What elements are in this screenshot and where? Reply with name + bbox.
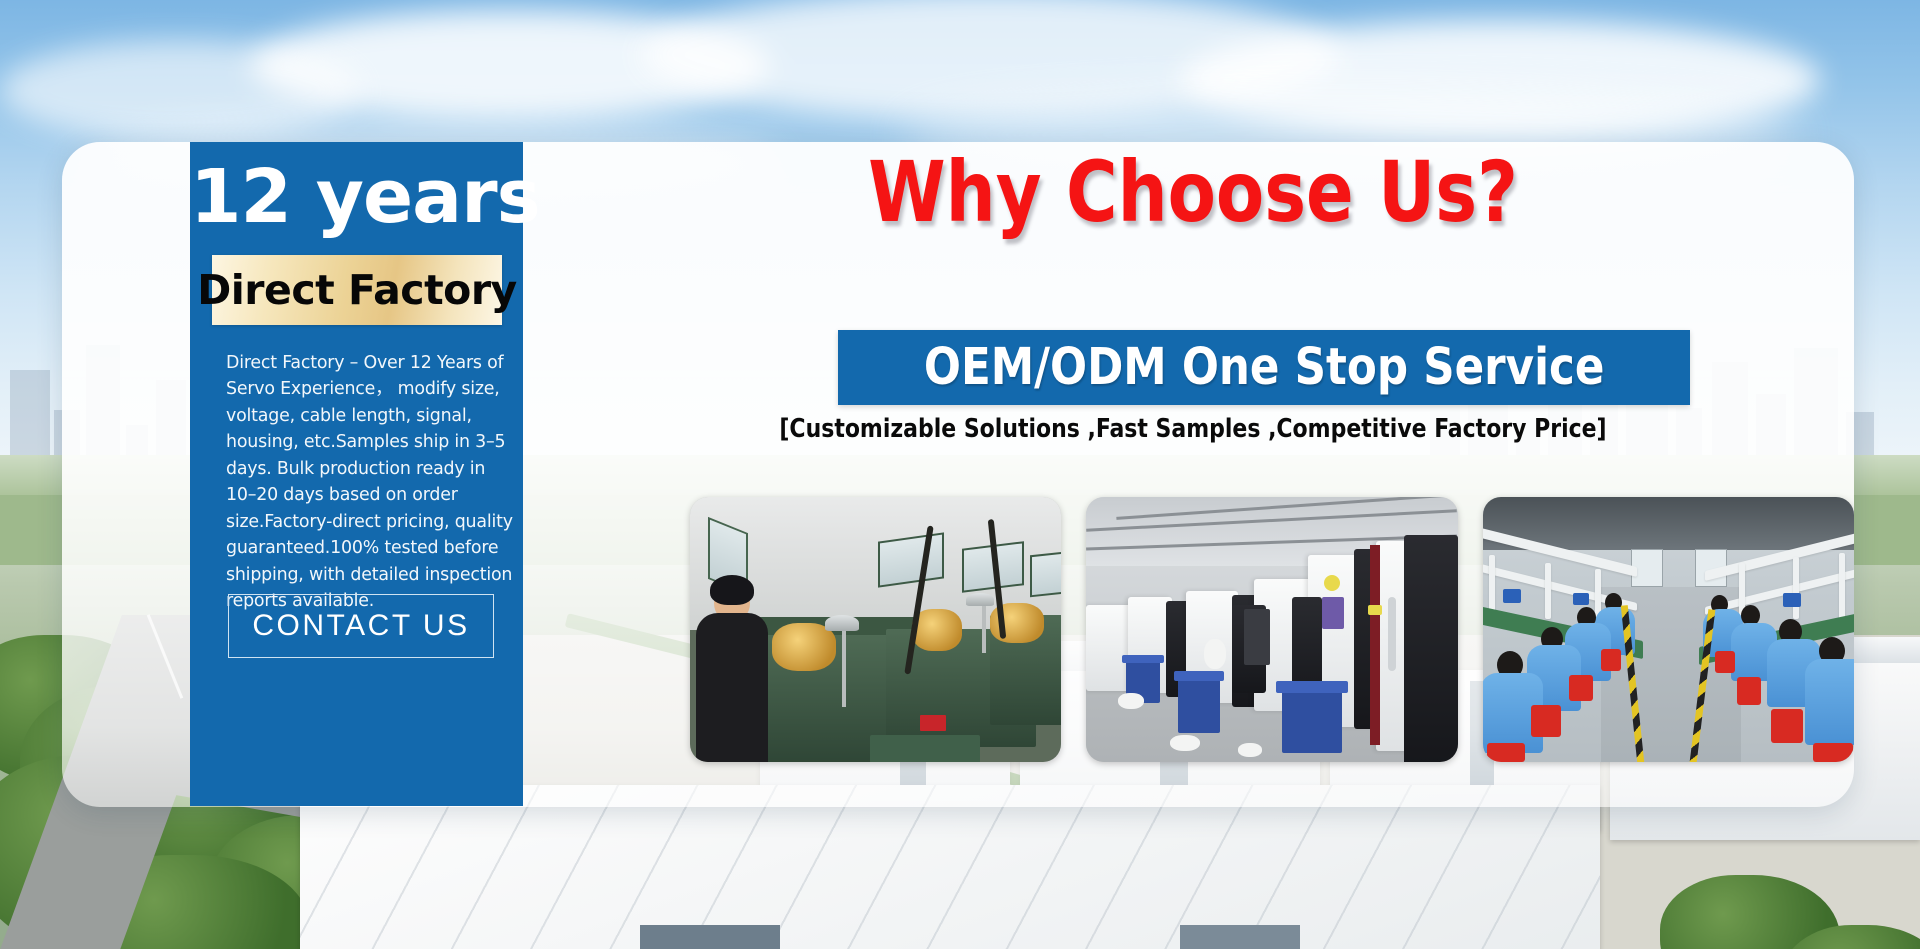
- banner-stage: 12 years Direct Factory Direct Factory –…: [0, 0, 1920, 949]
- left-blue-panel: 12 years Direct Factory Direct Factory –…: [190, 142, 523, 806]
- years-headline: 12 years: [190, 160, 523, 234]
- contact-us-button-label: CONTACT US: [252, 609, 469, 643]
- direct-factory-badge: Direct Factory: [212, 255, 502, 325]
- direct-factory-badge-label: Direct Factory: [197, 270, 517, 311]
- oem-odm-service-bar: OEM/ODM One Stop Service: [838, 330, 1690, 405]
- photo-worker-lathe: [690, 497, 1061, 762]
- service-highlights-subtitle: [Customizable Solutions ,Fast Samples ,C…: [572, 416, 1815, 442]
- why-choose-us-headline: Why Choose Us?: [578, 150, 1807, 234]
- photo-assembly-line: [1483, 497, 1854, 762]
- factory-description: Direct Factory – Over 12 Years of Servo …: [226, 350, 514, 615]
- photo-cnc-machines: [1086, 497, 1457, 762]
- content-card: 12 years Direct Factory Direct Factory –…: [62, 142, 1854, 807]
- factory-photo-strip: [690, 497, 1854, 762]
- oem-odm-service-bar-label: OEM/ODM One Stop Service: [924, 342, 1605, 393]
- contact-us-button[interactable]: CONTACT US: [228, 594, 494, 658]
